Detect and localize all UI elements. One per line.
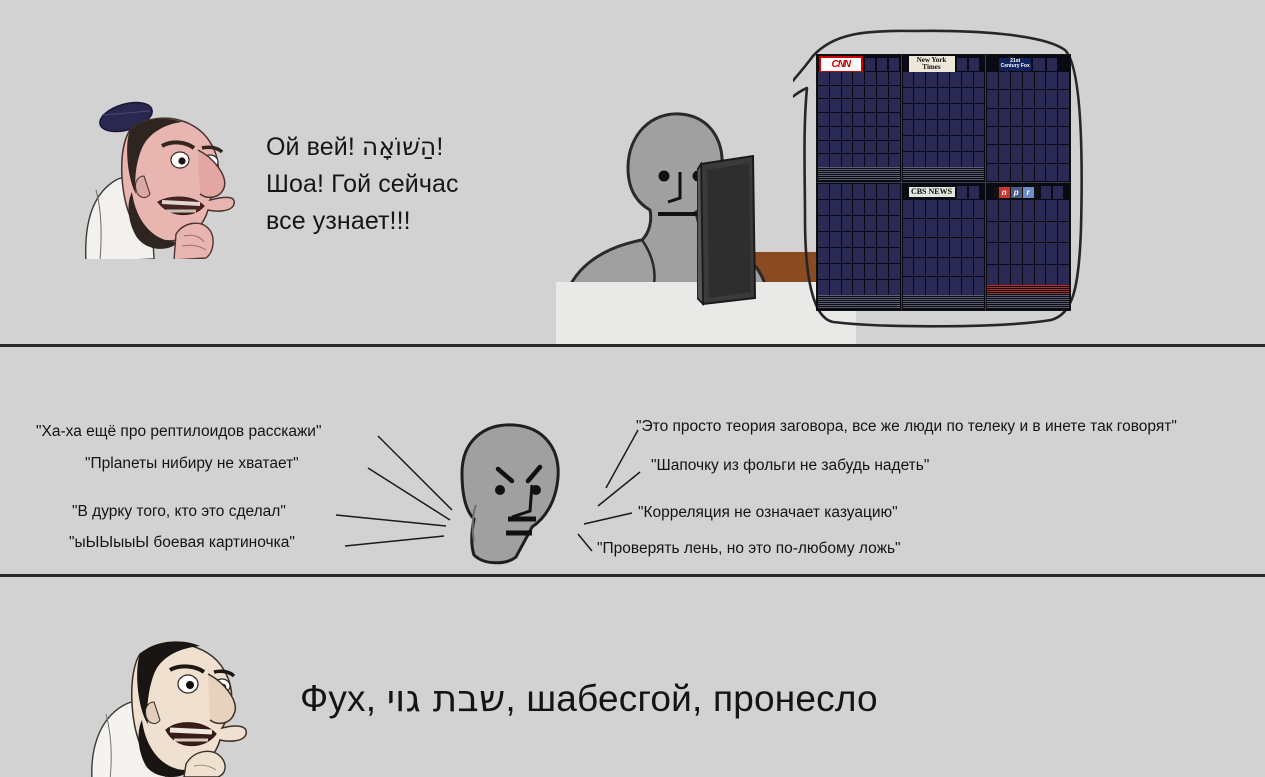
poster-caption-block (903, 295, 985, 309)
poster-caption-block (818, 295, 900, 309)
poster-section-nyt: New York Times (902, 55, 986, 183)
poster-section-extra-1 (817, 183, 901, 310)
headshot-grid (987, 72, 1069, 181)
speech-line1-ru: Ой вей! (266, 133, 362, 161)
panel-divider-2 (0, 574, 1265, 577)
bottom-text-part2: , шабесгой, пронесло (505, 678, 877, 719)
label-left-4: "ыЫЫыыЫ боевая картиночка" (69, 534, 295, 552)
speech-line1-bang: ! (436, 133, 443, 161)
poster-logo-row: 21st Century Fox (987, 56, 1069, 72)
poster-section-cbs: CBS NEWS (902, 183, 986, 310)
speech-line3: все узнает!!! (266, 203, 506, 240)
label-left-1: "Ха-ха ещё про рептилоидов расскажи" (36, 423, 321, 441)
bottom-text-hebrew: שבת גוי (387, 677, 506, 720)
poster-logo-row: CNN (818, 56, 900, 72)
poster-section-cnn: CNN (817, 55, 901, 183)
headshot-grid (987, 200, 1069, 285)
cnn-logo: CNN (819, 56, 863, 72)
headshot-grid (818, 184, 900, 295)
cbs-logo: CBS NEWS (909, 187, 955, 197)
poster-logo-row: n p r (987, 184, 1069, 200)
poster-section-npr: n p r (986, 183, 1070, 310)
label-right-1: "Это просто теория заговора, все же люди… (636, 418, 1177, 436)
npc-wojak-angry (440, 415, 600, 575)
label-right-2: "Шапочку из фольги не забудь надеть" (651, 457, 929, 475)
headshot-grid (818, 72, 900, 167)
poster-red-caption (987, 285, 1069, 295)
poster-column: New York Times (902, 55, 987, 310)
nyt-logo: New York Times (909, 56, 955, 72)
speech-line2: Шоа! Гой сейчас (266, 166, 506, 203)
label-right-3: "Корреляция не означает казуацию" (638, 504, 898, 522)
media-ownership-poster: CNN (816, 54, 1071, 311)
computer-monitor (697, 152, 759, 312)
fox-logo: 21st Century Fox (999, 58, 1031, 71)
happy-merchant-caricature (58, 84, 248, 259)
poster-caption-block (903, 167, 985, 181)
label-left-3: "В дурку того, кто это сделал" (72, 503, 286, 521)
poster-logo-row: CBS NEWS (903, 184, 985, 200)
panel-top: Ой вей! הַשׁוֹאָה! Шоа! Гой сейчас все у… (0, 0, 1265, 345)
poster-logo-row: New York Times (903, 56, 985, 72)
panel-divider-1 (0, 344, 1265, 347)
bottom-caption: Фух, שבת גוי, шабесгой, пронесло (300, 677, 878, 720)
poster-caption-block (818, 167, 900, 181)
top-speech-text: Ой вей! הַשׁוֹאָה! Шоа! Гой сейчас все у… (266, 128, 506, 240)
bottom-text-part1: Фух, (300, 678, 387, 719)
label-right-4: "Проверять лень, но это по-любому ложь" (597, 540, 901, 558)
poster-column: 21st Century Fox (986, 55, 1070, 310)
npr-logo: n p r (993, 187, 1039, 198)
headshot-grid (903, 200, 985, 295)
happy-merchant-caricature-grinning (62, 618, 262, 777)
headshot-grid (903, 72, 985, 167)
speech-line1-hebrew: הַשׁוֹאָה (362, 132, 436, 161)
poster-caption-block (987, 295, 1069, 309)
poster-section-fox: 21st Century Fox (986, 55, 1070, 183)
poster-thought-bubble: CNN (793, 28, 1088, 328)
poster-column: CNN (817, 55, 902, 310)
label-left-2: "Пplanеты нибиру не хватает" (85, 455, 299, 473)
